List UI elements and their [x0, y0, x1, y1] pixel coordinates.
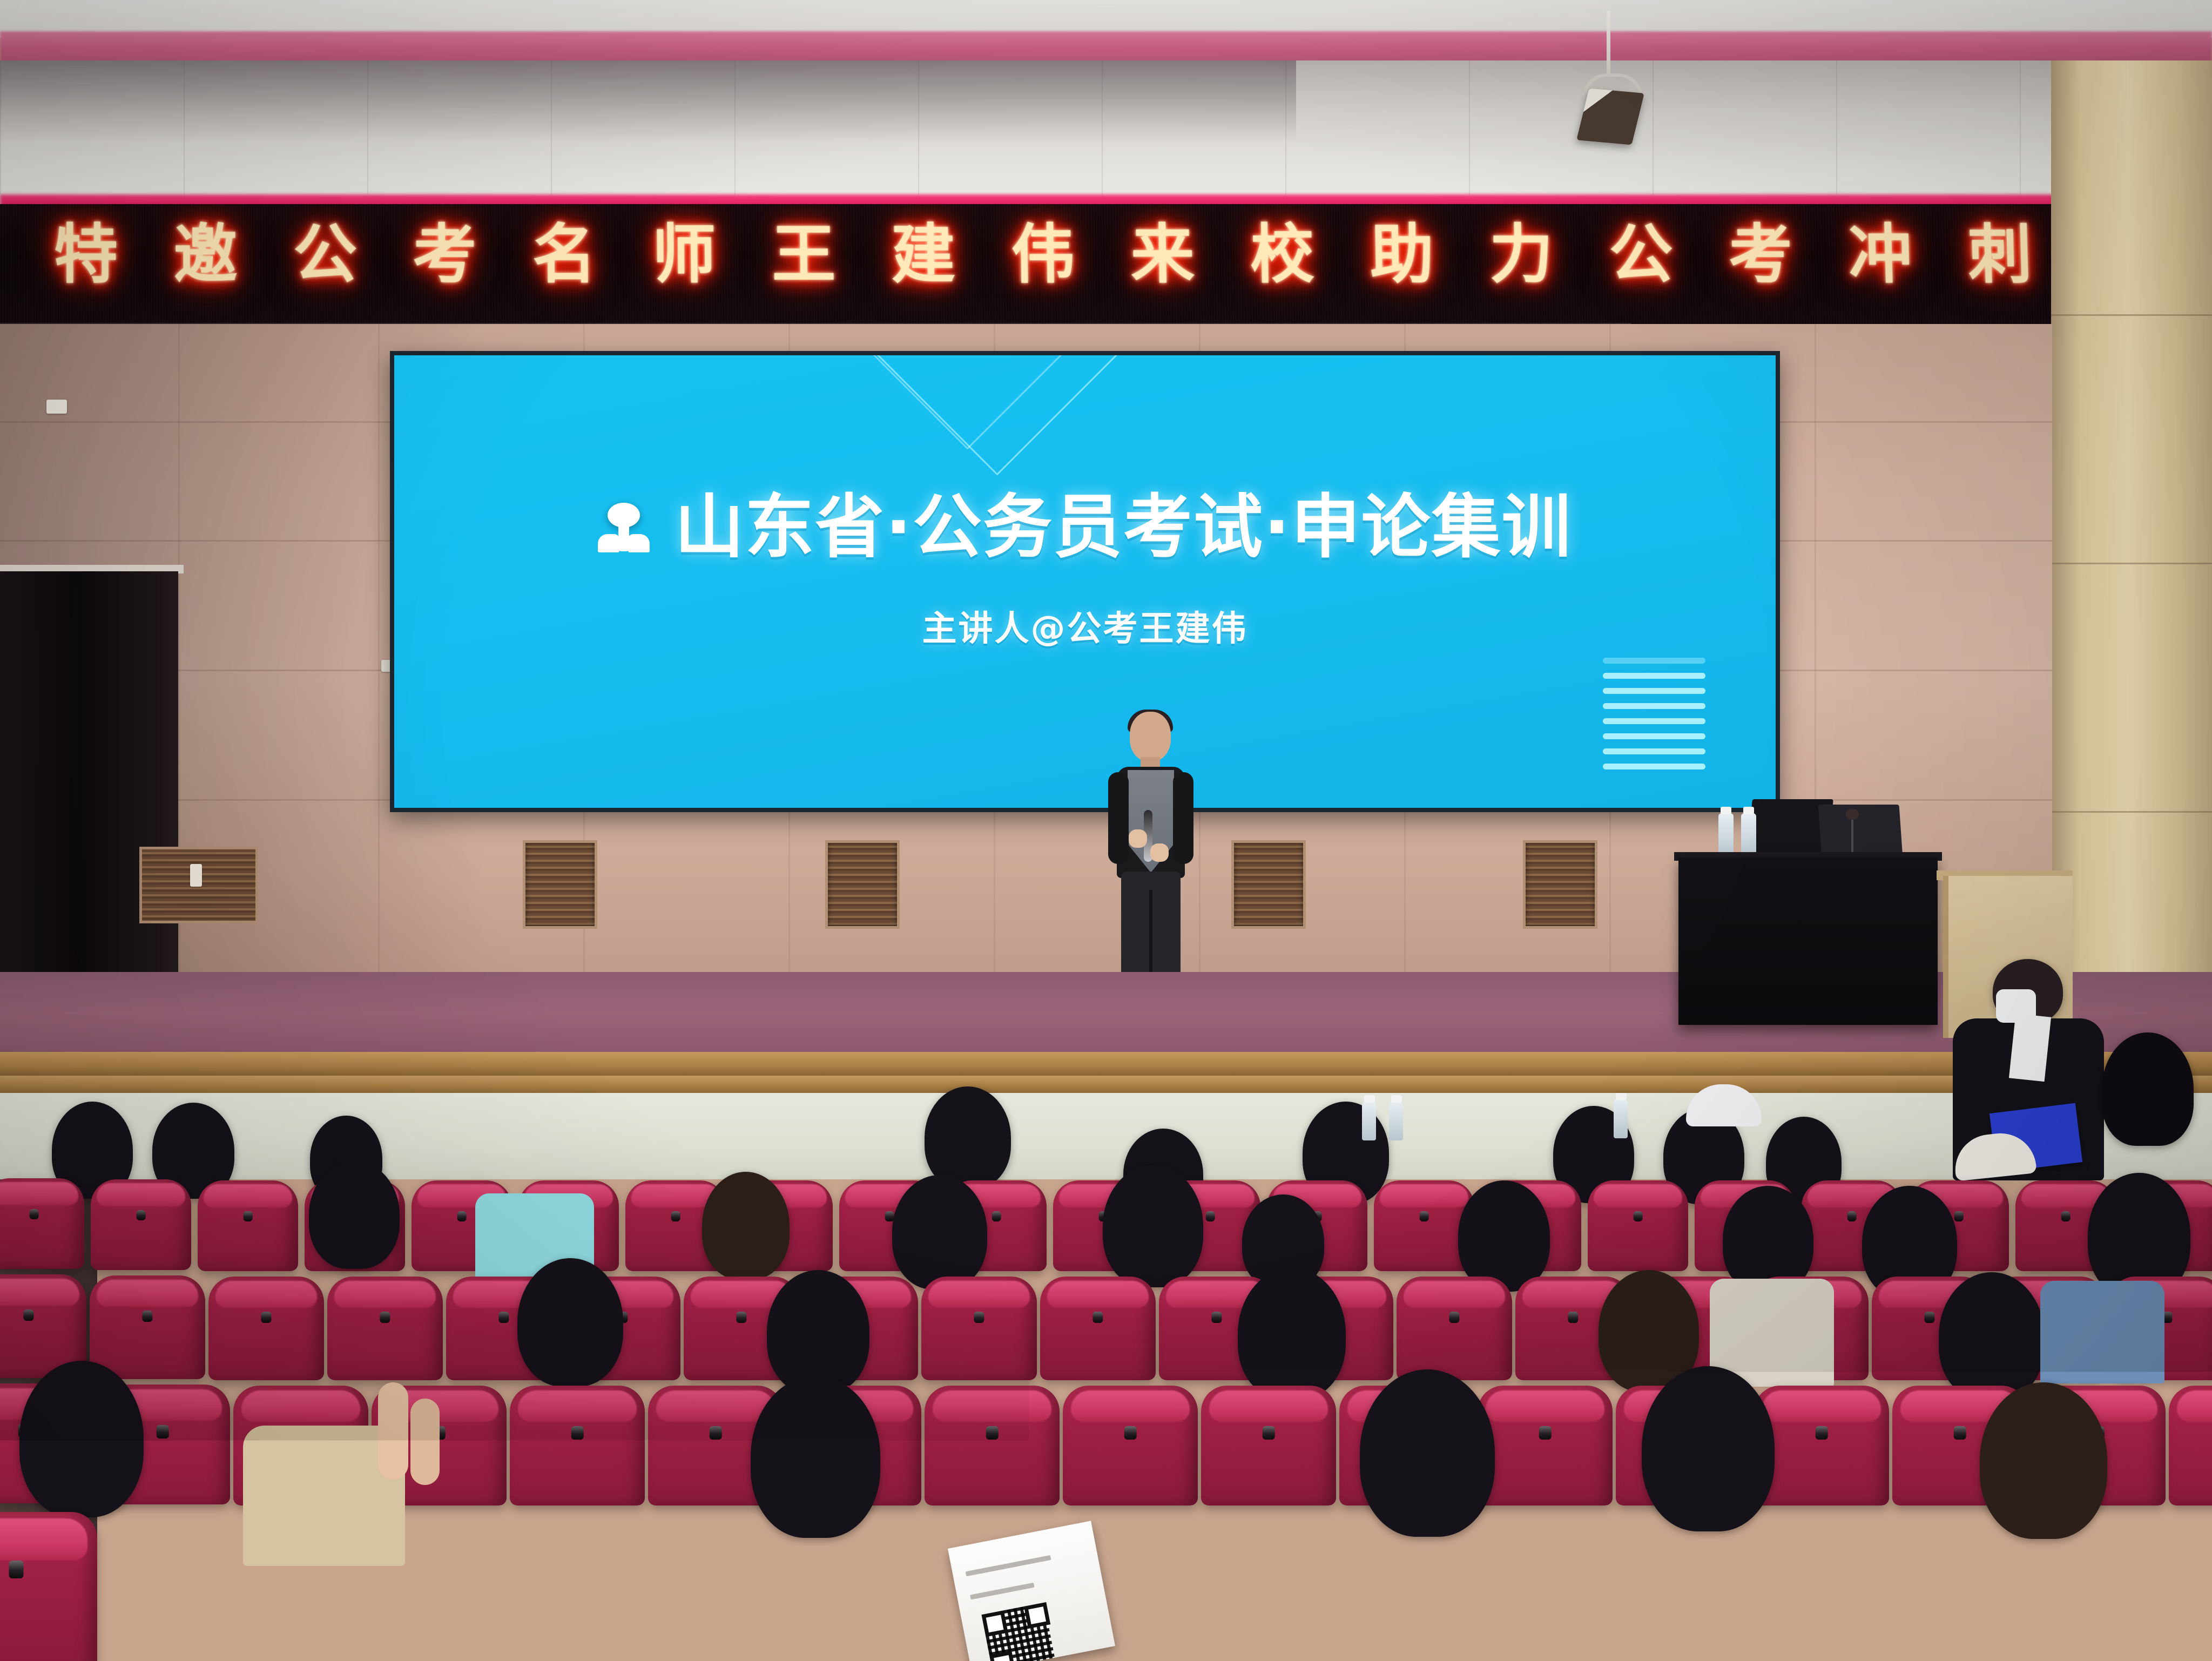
wall-vent: [825, 840, 900, 929]
seated-attendee-head: [1642, 1366, 1775, 1531]
seated-attendee-body: [2040, 1281, 2164, 1383]
seated-attendee-head: [309, 1161, 400, 1269]
av-control-desk: [1678, 857, 1938, 1025]
raised-hand: [410, 1399, 440, 1485]
auditorium-seat[interactable]: [596, 1514, 758, 1661]
auditorium-seat[interactable]: [327, 1277, 443, 1380]
gooseneck-mic-stand: [1851, 816, 1853, 856]
auditorium-seat[interactable]: [90, 1275, 205, 1379]
seated-attendee-head: [19, 1361, 144, 1517]
presentation-screen-frame: 山东省·公务员考试·申论集训 主讲人@公考王建伟: [390, 351, 1780, 812]
stage-edge-trim: [0, 1052, 2212, 1079]
auditorium-seat[interactable]: [1588, 1514, 1750, 1661]
stage-side-curtain: [0, 571, 178, 987]
seated-attendee-head: [517, 1258, 623, 1387]
auditorium-seat[interactable]: [925, 1386, 1060, 1505]
led-char: 冲: [1847, 222, 1913, 286]
auditorium-seat[interactable]: [921, 1277, 1037, 1380]
led-char: 公: [1608, 222, 1674, 286]
seated-attendee-head: [1939, 1272, 2045, 1401]
light-switch-plate[interactable]: [190, 864, 202, 887]
spotlight-rod: [1607, 11, 1610, 76]
led-char: 邀: [173, 222, 237, 286]
auditorium-seat[interactable]: [1478, 1386, 1613, 1505]
wall-vent: [1523, 840, 1597, 929]
auditorium-seat[interactable]: [431, 1514, 593, 1661]
laptop[interactable]: [1818, 805, 1903, 859]
auditorium-seat[interactable]: [510, 1386, 645, 1505]
water-bottle: [1741, 813, 1756, 856]
slide-subtitle: 主讲人@公考王建伟: [394, 601, 1776, 651]
led-banner-text: 特 邀 公 考 名 师 王 建 伟 来 校 助 力 公 考 冲 刺: [54, 222, 2033, 286]
person-suit-icon: [598, 503, 650, 552]
water-bottle: [1362, 1102, 1376, 1140]
seated-attendee-head: [925, 1086, 1011, 1189]
presentation-screen: 山东省·公务员考试·申论集训 主讲人@公考王建伟: [394, 355, 1776, 808]
led-char: 公: [293, 222, 358, 286]
auditorium-seat[interactable]: [208, 1277, 324, 1380]
led-char: 校: [1250, 222, 1314, 286]
seated-attendee-head: [1360, 1369, 1495, 1537]
auditorium-seat[interactable]: [927, 1514, 1089, 1661]
seated-attendee-head: [1458, 1180, 1550, 1292]
auditorium-seat[interactable]: [1397, 1277, 1512, 1380]
seated-attendee-head: [1869, 1528, 2031, 1661]
auditorium-seat[interactable]: [1092, 1514, 1254, 1661]
seated-attendee-head: [1238, 1268, 1346, 1400]
auditorium-seat[interactable]: [1422, 1514, 1584, 1661]
auditorium-seat[interactable]: [266, 1514, 428, 1661]
water-bottle: [1614, 1099, 1628, 1138]
auditorium-seat[interactable]: [1063, 1386, 1198, 1505]
auditorium-photo: 特 邀 公 考 名 师 王 建 伟 来 校 助 力 公 考 冲 刺: [0, 0, 2212, 1661]
auditorium-seat[interactable]: [1040, 1277, 1156, 1380]
seated-attendee-head: [2102, 1032, 2194, 1146]
led-char: 刺: [1967, 222, 2033, 286]
water-bottle: [1389, 1102, 1403, 1140]
led-char: 名: [532, 222, 597, 286]
led-char: 来: [1130, 222, 1195, 286]
stripe-decoration-icon: [1603, 658, 1705, 769]
speaker-head: [1130, 712, 1171, 761]
raised-hand: [378, 1382, 408, 1480]
led-char: 师: [652, 222, 716, 286]
upper-wall-shadow: [0, 60, 1296, 141]
ceiling-led-strip: [0, 31, 2212, 65]
seated-attendee-head: [892, 1175, 987, 1289]
auditorium-seat[interactable]: [2083, 1514, 2212, 1661]
auditorium-seat[interactable]: [1201, 1386, 1336, 1505]
seated-attendee-head: [1103, 1165, 1203, 1287]
led-char: 力: [1489, 222, 1554, 286]
hall-chair-rail: [0, 1076, 2212, 1094]
microphone-icon: [1846, 809, 1859, 820]
auditorium-seat[interactable]: [2169, 1386, 2212, 1505]
slide-title: 山东省·公务员考试·申论集训: [675, 493, 1572, 562]
white-shirt-collar: [2009, 1014, 2051, 1082]
water-bottle: [1718, 813, 1734, 856]
led-char: 助: [1370, 222, 1434, 286]
auditorium-seat[interactable]: [0, 1178, 84, 1269]
right-pillar: [2051, 60, 2212, 978]
auditorium-seat[interactable]: [100, 1513, 262, 1661]
light-switch-plate[interactable]: [46, 400, 67, 414]
seated-attendee-head: [1274, 1544, 1431, 1661]
auditorium-seat[interactable]: [1588, 1180, 1688, 1271]
auditorium-seat[interactable]: [761, 1514, 923, 1661]
led-char: 王: [772, 222, 836, 286]
seated-attendee-head: [702, 1172, 790, 1280]
led-scrolling-banner: 特 邀 公 考 名 师 王 建 伟 来 校 助 力 公 考 冲 刺: [0, 204, 2056, 335]
auditorium-seat[interactable]: [0, 1512, 97, 1661]
auditorium-seat[interactable]: [91, 1179, 191, 1270]
led-char: 伟: [1010, 222, 1075, 286]
seated-attendee-head: [751, 1376, 880, 1538]
led-char: 建: [891, 222, 956, 286]
wall-vent: [523, 840, 597, 929]
auditorium-seat[interactable]: [198, 1180, 298, 1271]
led-char: 考: [1728, 222, 1793, 286]
led-char: 考: [413, 222, 477, 286]
led-char: 特: [54, 222, 118, 286]
wall-vent: [1231, 840, 1306, 929]
